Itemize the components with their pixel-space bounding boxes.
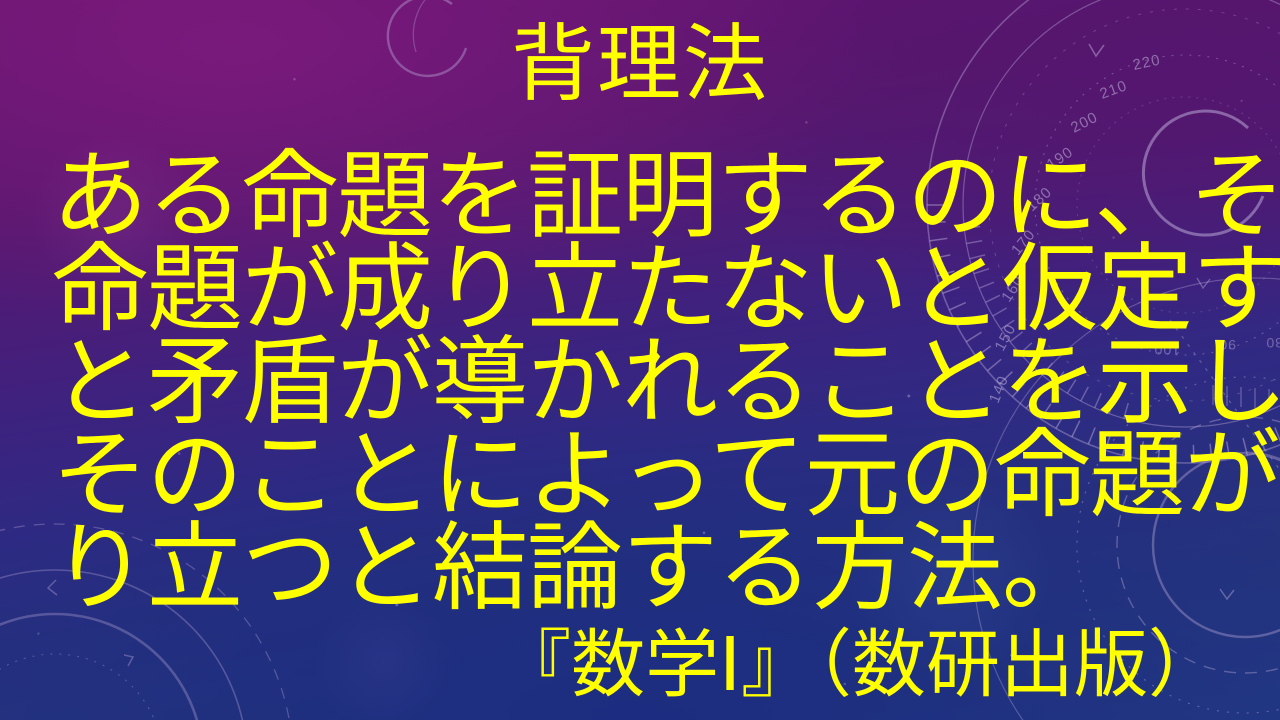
slide-title: 背理法 — [0, 22, 1280, 106]
source-citation: 『数学Ⅰ』（数研出版） — [0, 628, 1222, 702]
slide-canvas: 150 160 170 180 190 200 210 220 140 — [0, 0, 1280, 720]
body-line: そのことによって元の命題が成 — [52, 429, 1232, 522]
body-line: 命題が成り立たないと仮定する — [52, 243, 1232, 336]
body-line: り立つと結論する方法。 — [52, 522, 1232, 615]
slide-content: 背理法 ある命題を証明するのに、その 命題が成り立たないと仮定する と矛盾が導か… — [0, 0, 1280, 720]
slide-body: ある命題を証明するのに、その 命題が成り立たないと仮定する と矛盾が導かれること… — [52, 150, 1232, 615]
body-line: ある命題を証明するのに、その — [52, 150, 1232, 243]
body-line: と矛盾が導かれることを示し、 — [52, 336, 1232, 429]
